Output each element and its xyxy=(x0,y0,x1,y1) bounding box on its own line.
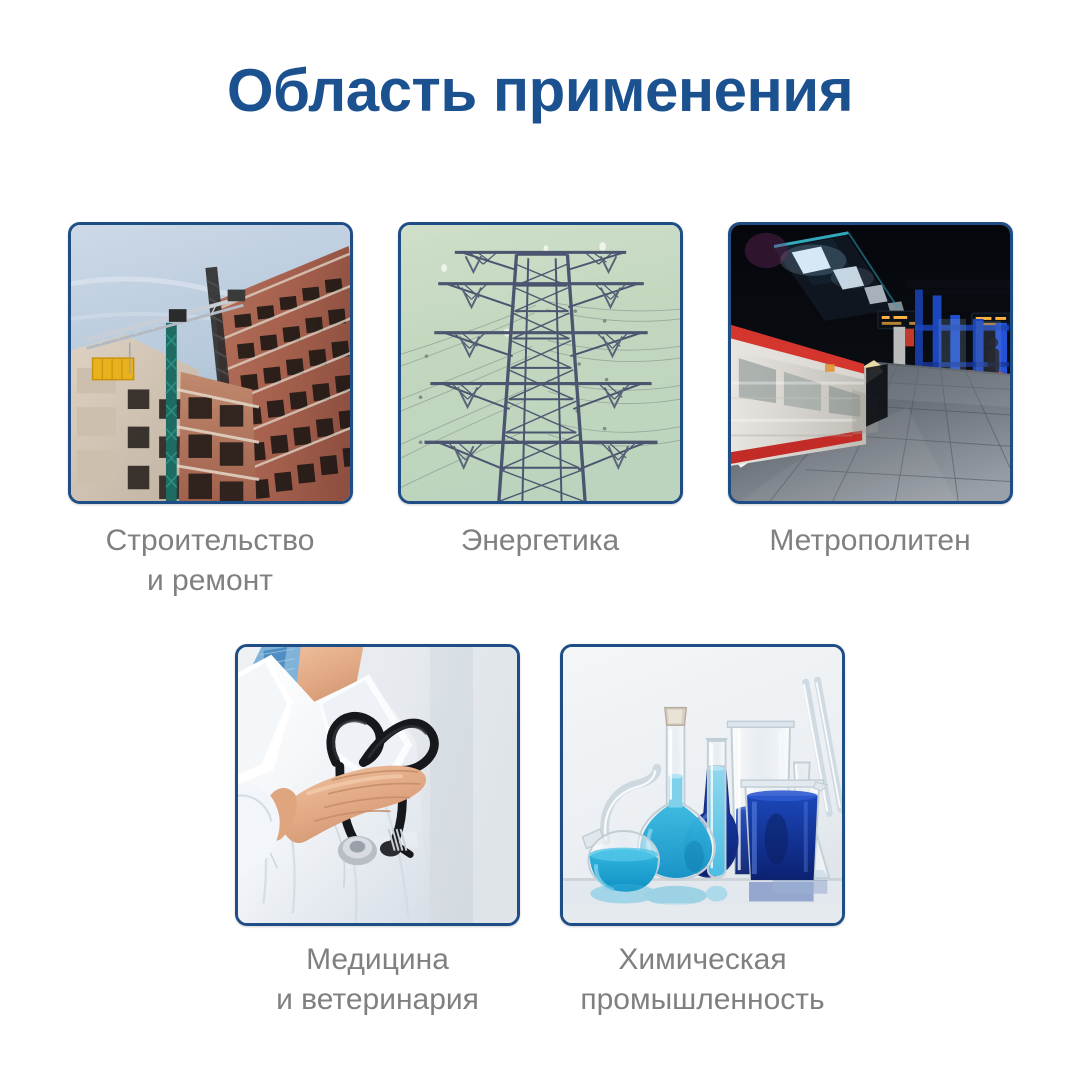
power-transmission-tower-photo[interactable] xyxy=(398,222,683,504)
page-title: Область применения xyxy=(0,58,1080,124)
card-metro[interactable]: Метрополитен xyxy=(728,222,1013,600)
card-label-chemistry: Химическая промышленность xyxy=(580,940,824,1019)
card-label-medicine: Медицина и ветеринария xyxy=(276,940,479,1019)
card-label-construction: Строительство и ремонт xyxy=(106,521,315,600)
construction-site-photo[interactable] xyxy=(68,222,353,504)
slide-root: Область применения xyxy=(0,0,1080,1080)
card-construction[interactable]: Строительство и ремонт xyxy=(68,222,353,600)
card-label-metro: Метрополитен xyxy=(769,521,970,561)
doctor-stethoscope-photo[interactable] xyxy=(235,644,520,926)
card-row-bottom: Медицина и ветеринария xyxy=(0,644,1080,1019)
card-medicine[interactable]: Медицина и ветеринария xyxy=(235,644,520,1019)
card-chemistry[interactable]: Химическая промышленность xyxy=(560,644,845,1019)
card-energy[interactable]: Энергетика xyxy=(398,222,683,600)
card-row-top: Строительство и ремонт xyxy=(0,222,1080,600)
metro-station-photo[interactable] xyxy=(728,222,1013,504)
laboratory-glassware-photo[interactable] xyxy=(560,644,845,926)
card-label-energy: Энергетика xyxy=(461,521,619,561)
